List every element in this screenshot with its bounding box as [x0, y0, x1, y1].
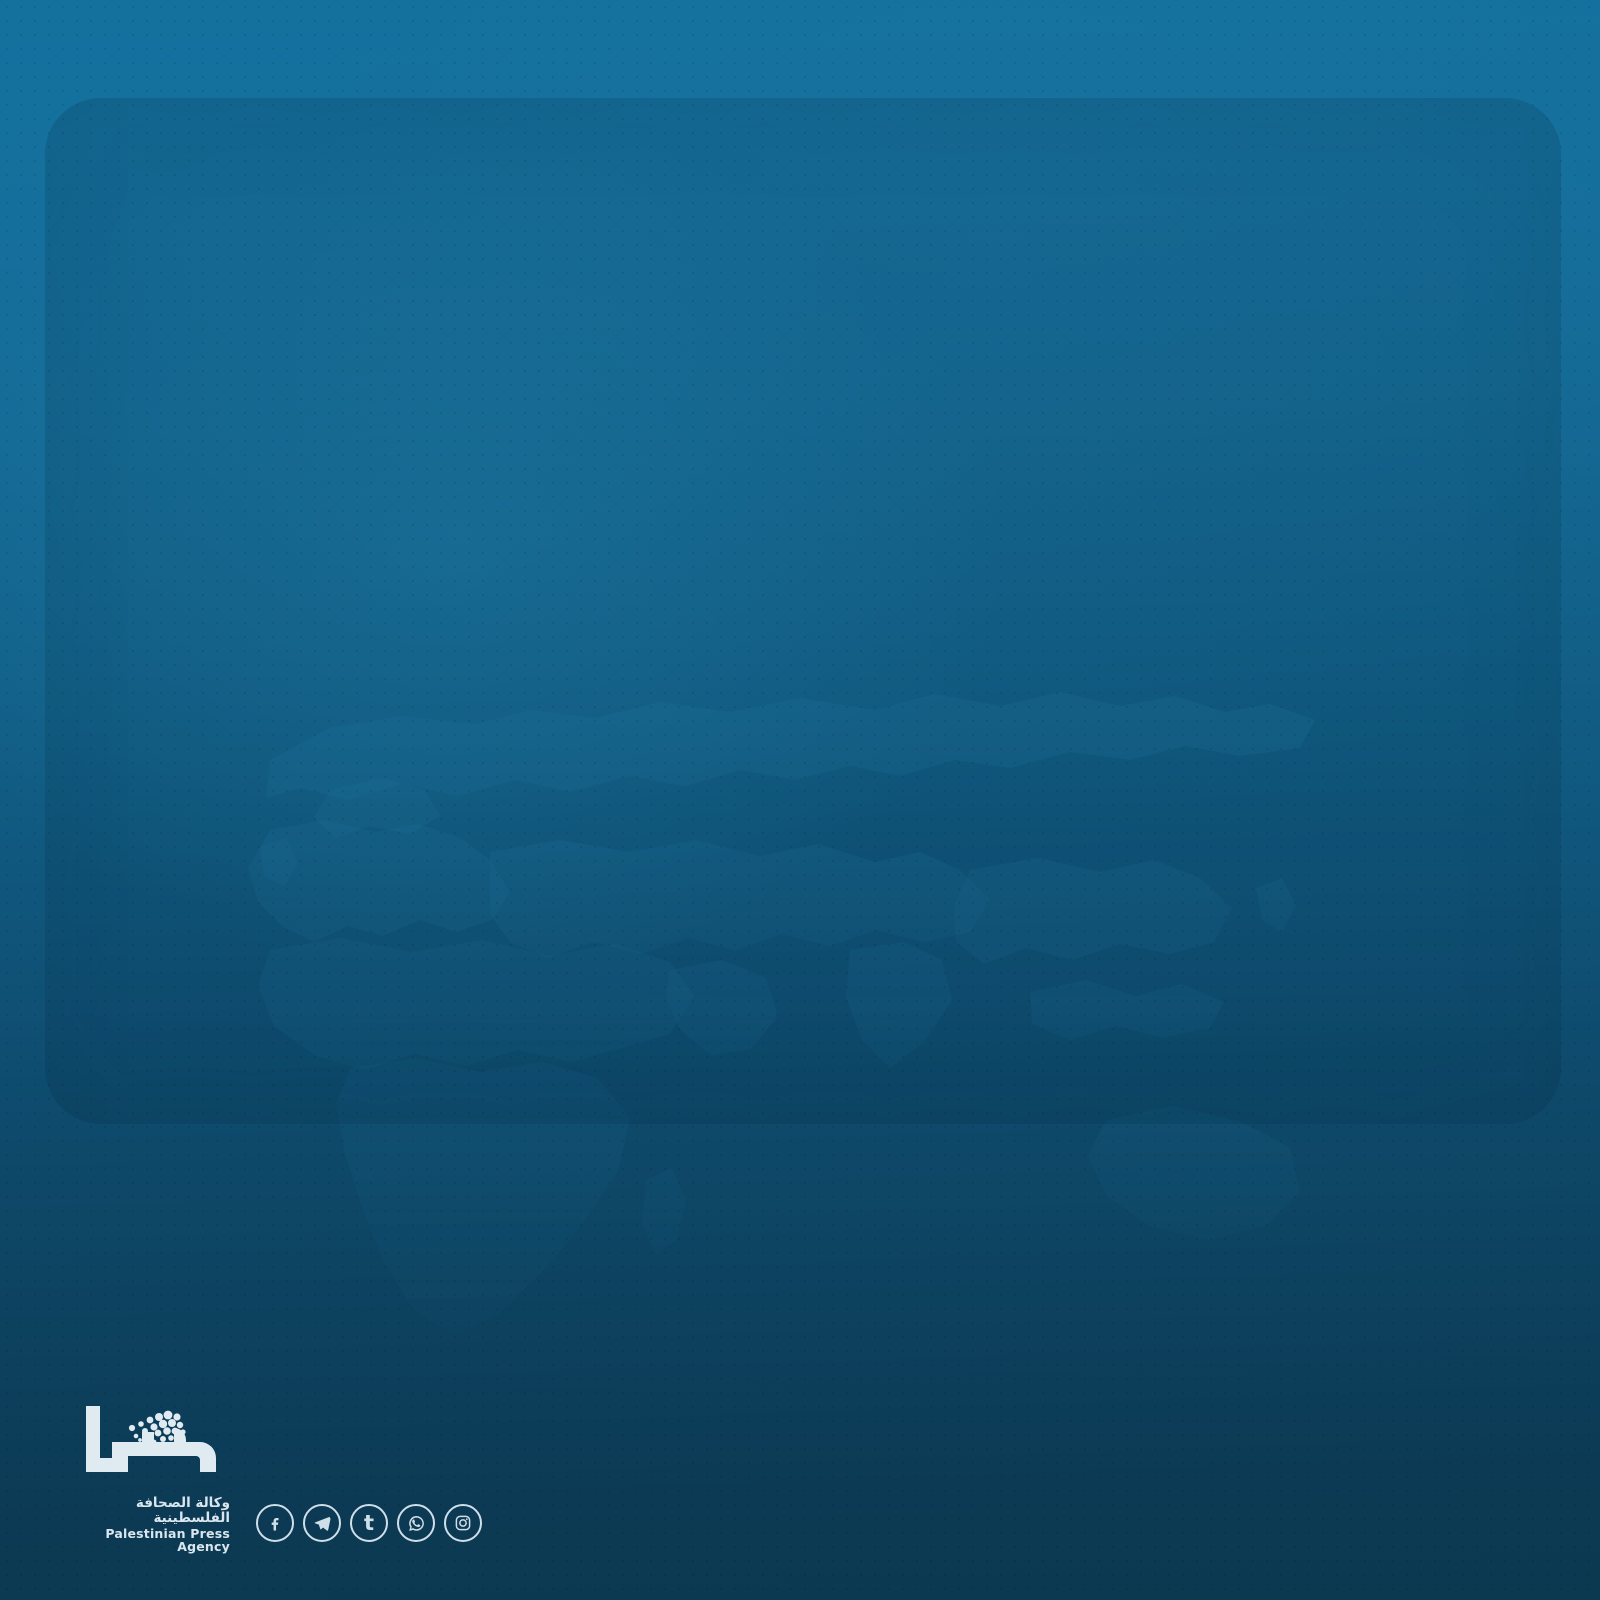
- whatsapp-icon[interactable]: [397, 1504, 435, 1542]
- instagram-icon[interactable]: [444, 1504, 482, 1542]
- social-links: t: [256, 1504, 482, 1542]
- infographic-canvas: الخارجية المصرية ضرورة توفير الحماية الك…: [0, 0, 1600, 1600]
- tumblr-icon[interactable]: t: [350, 1504, 388, 1542]
- tumblr-glyph: t: [364, 1513, 374, 1534]
- facebook-icon[interactable]: [256, 1504, 294, 1542]
- safa-logo: وكالة الصحافة الفلسطينية Palestinian Pre…: [78, 1398, 230, 1554]
- statements-list: الخارجية المصرية ضرورة توفير الحماية الك…: [0, 0, 1600, 1600]
- footer: وكالة الصحافة الفلسطينية Palestinian Pre…: [78, 1398, 482, 1554]
- agency-name-arabic: وكالة الصحافة الفلسطينية: [78, 1496, 230, 1526]
- telegram-icon[interactable]: [303, 1504, 341, 1542]
- agency-name-english: Palestinian Press Agency: [78, 1527, 230, 1555]
- safa-logo-mark: [78, 1398, 230, 1494]
